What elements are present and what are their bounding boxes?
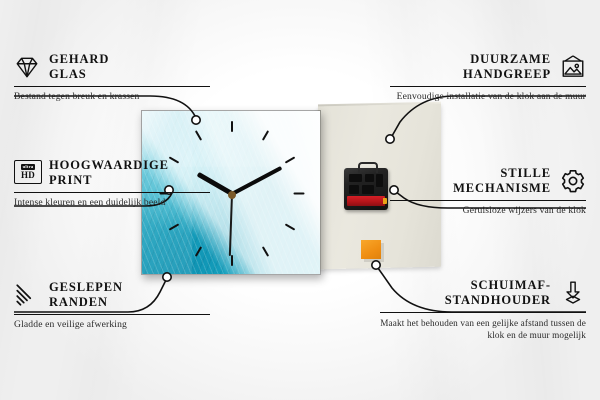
feature-subtitle: Bestand tegen breuk en krassen [14,91,210,104]
feature-divider [14,192,210,194]
gear-icon [560,168,586,194]
hanging-hook-icon [358,162,378,173]
infographic-canvas: GEHARD GLAS Bestand tegen breuk en krass… [0,0,600,400]
feature-divider [390,200,586,202]
feature-stille-mechanisme: STILLE MECHANISME Geruisloze wijzers van… [390,166,586,218]
feature-header: SCHUIMAF- STANDHOUDER [380,278,586,309]
feature-geslepen-randen: GESLEPEN RANDEN Gladde en veilige afwerk… [14,280,210,332]
feature-divider [380,312,586,314]
feature-title: SCHUIMAF- STANDHOUDER [445,278,551,309]
feature-duurzame-handgreep: DUURZAME HANDGREEP Eenvoudige installati… [390,52,586,104]
ultra-hd-badge: ultra HD [14,160,42,184]
feature-subtitle: Gladde en veilige afwerking [14,319,210,332]
movement-vent [362,185,374,194]
hour-tick [231,121,233,132]
feature-title: STILLE MECHANISME [453,166,551,197]
beveled-edges-icon [14,282,40,308]
feature-title: GEHARD GLAS [49,52,109,83]
feature-subtitle: Eenvoudige installatie van de klok aan d… [390,91,586,104]
feature-title: DUURZAME HANDGREEP [463,52,551,83]
foam-spacer [361,240,381,259]
movement-vent [365,174,374,182]
movement-vent [349,185,359,194]
ultra-hd-icon: ultra HD [14,160,40,186]
feature-divider [14,86,210,88]
picture-frame-icon [560,54,586,80]
movement-vent [376,174,383,187]
feature-header: DUURZAME HANDGREEP [390,52,586,83]
hour-tick [294,193,305,195]
diamond-icon [14,54,40,80]
feature-subtitle: Intense kleuren en een duidelijk beeld [14,197,210,210]
down-arrow-pad-icon [560,280,586,306]
feature-subtitle: Maakt het behouden van een gelijke afsta… [380,317,586,341]
hour-tick [231,255,233,266]
aa-battery [347,196,385,206]
feature-hoogwaardige-print: ultra HD HOOGWAARDIGE PRINT Intense kleu… [14,158,210,210]
feature-schuimafstandhouder: SCHUIMAF- STANDHOUDER Maakt het behouden… [380,278,586,341]
feature-header: GEHARD GLAS [14,52,210,83]
feature-title: HOOGWAARDIGE PRINT [49,158,169,189]
feature-header: STILLE MECHANISME [390,166,586,197]
feature-title: GESLEPEN RANDEN [49,280,123,311]
feature-gehard-glas: GEHARD GLAS Bestand tegen breuk en krass… [14,52,210,104]
feature-header: ultra HD HOOGWAARDIGE PRINT [14,158,210,189]
feature-subtitle: Geruisloze wijzers van de klok [390,205,586,218]
feature-divider [390,86,586,88]
feature-header: GESLEPEN RANDEN [14,280,210,311]
clock-hand-pivot [228,191,236,199]
movement-vent [349,174,362,182]
clock-movement [344,168,388,210]
feature-divider [14,314,210,316]
badge-hd-label: HD [21,171,35,180]
